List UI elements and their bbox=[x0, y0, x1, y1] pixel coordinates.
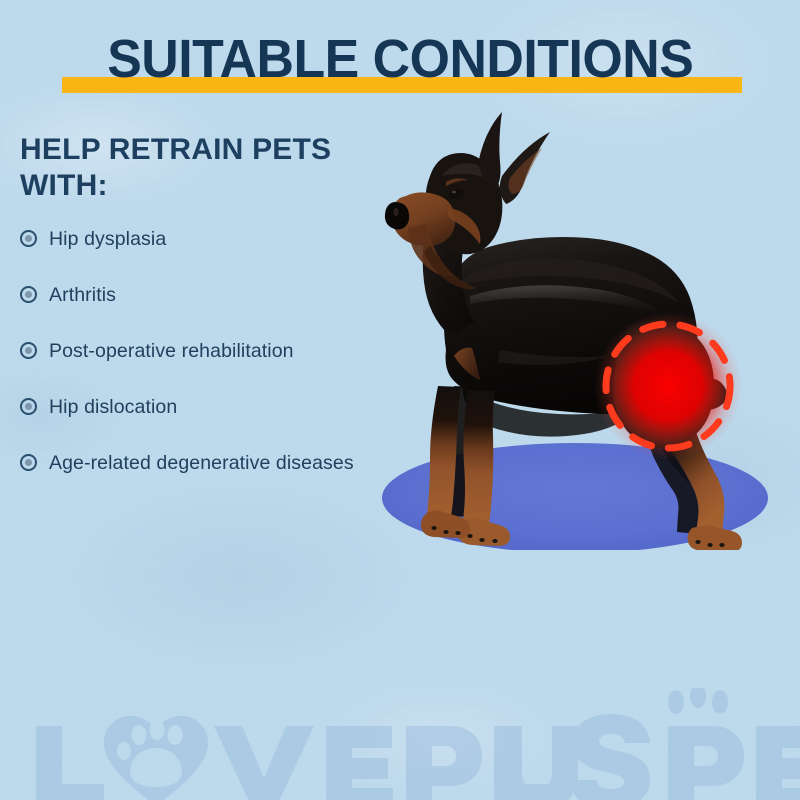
pain-marker bbox=[594, 312, 742, 460]
watermark-letter-V bbox=[214, 726, 314, 800]
dog-eye-highlight bbox=[452, 191, 456, 194]
list-item-label: Age-related degenerative diseases bbox=[49, 450, 354, 476]
paw-dots-icon bbox=[668, 688, 728, 714]
list-item-label: Hip dislocation bbox=[49, 394, 177, 420]
dog-nostril bbox=[393, 208, 398, 216]
watermark-letter-L bbox=[36, 726, 104, 800]
conditions-panel: HELP RETRAIN PETS WITH: Hip dysplasia Ar… bbox=[20, 132, 390, 476]
title-block: SUITABLE CONDITIONS bbox=[0, 26, 800, 98]
front-leg-near bbox=[463, 390, 495, 525]
poster-canvas: SUITABLE CONDITIONS HELP RETRAIN PETS WI… bbox=[0, 0, 800, 800]
panel-subheading: HELP RETRAIN PETS WITH: bbox=[20, 132, 390, 204]
radio-bullet-icon bbox=[20, 398, 37, 415]
list-item: Hip dysplasia bbox=[20, 226, 390, 252]
watermark-letter-P2 bbox=[668, 726, 744, 800]
watermark-letter-S bbox=[571, 714, 650, 800]
list-item: Arthritis bbox=[20, 282, 390, 308]
list-item-label: Post-operative rehabilitation bbox=[49, 338, 294, 364]
list-item: Post-operative rehabilitation bbox=[20, 338, 390, 364]
watermark-letter-L2 bbox=[494, 726, 562, 800]
radio-bullet-icon bbox=[20, 230, 37, 247]
paw-inside-heart bbox=[117, 720, 183, 787]
radio-bullet-icon bbox=[20, 342, 37, 359]
radio-bullet-icon bbox=[20, 286, 37, 303]
watermark-letter-E bbox=[326, 726, 393, 800]
watermark-letter-U bbox=[496, 726, 578, 800]
radio-bullet-icon bbox=[20, 454, 37, 471]
list-item-label: Hip dysplasia bbox=[49, 226, 166, 252]
list-item: Age-related degenerative diseases bbox=[20, 450, 390, 476]
watermark-letter-E2 bbox=[756, 726, 800, 800]
dog-illustration bbox=[350, 100, 800, 550]
pain-glow bbox=[594, 312, 742, 460]
conditions-list: Hip dysplasia Arthritis Post-operative r… bbox=[20, 226, 390, 476]
watermark-letter-P1 bbox=[406, 726, 482, 800]
page-title: SUITABLE CONDITIONS bbox=[107, 26, 693, 92]
list-item: Hip dislocation bbox=[20, 394, 390, 420]
heart-with-paw-icon bbox=[104, 716, 208, 800]
brand-watermark bbox=[0, 688, 800, 800]
list-item-label: Arthritis bbox=[49, 282, 116, 308]
dog-nose bbox=[385, 202, 409, 230]
